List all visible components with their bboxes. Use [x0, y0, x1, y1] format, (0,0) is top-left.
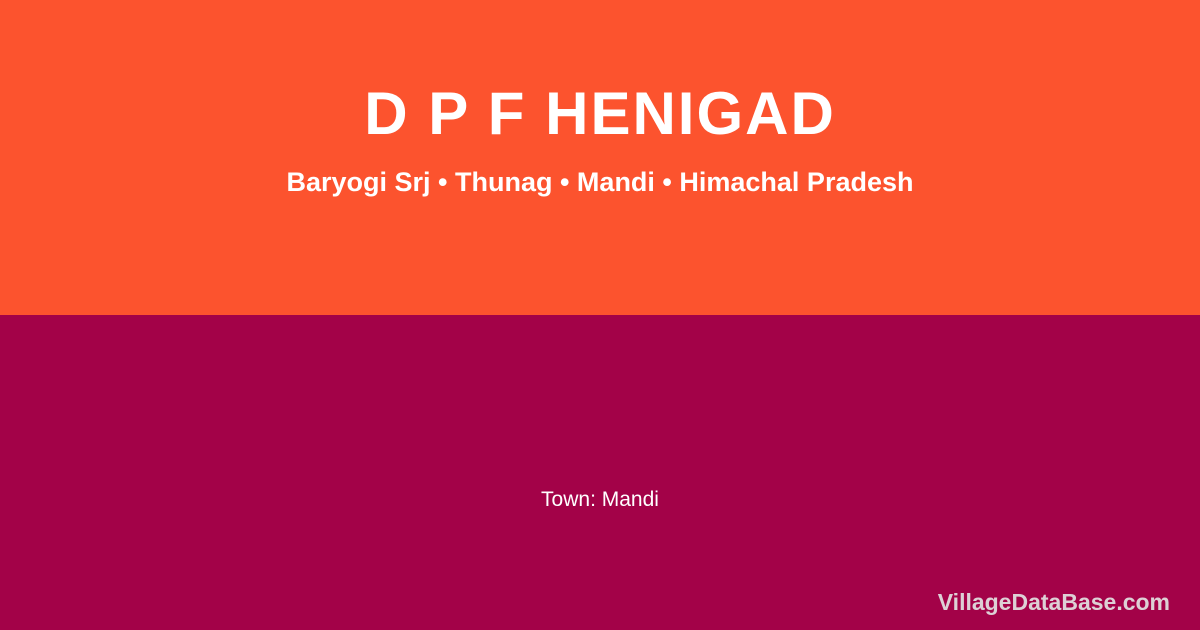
- card-body: Town: Mandi VillageDataBase.com: [0, 315, 1200, 630]
- breadcrumb: Baryogi Srj • Thunag • Mandi • Himachal …: [287, 167, 914, 198]
- site-watermark: VillageDataBase.com: [938, 589, 1170, 616]
- town-label: Town: Mandi: [0, 488, 1200, 512]
- card-header: D P F HENIGAD Baryogi Srj • Thunag • Man…: [0, 0, 1200, 315]
- page-title: D P F HENIGAD: [364, 82, 836, 145]
- info-card: D P F HENIGAD Baryogi Srj • Thunag • Man…: [0, 0, 1200, 630]
